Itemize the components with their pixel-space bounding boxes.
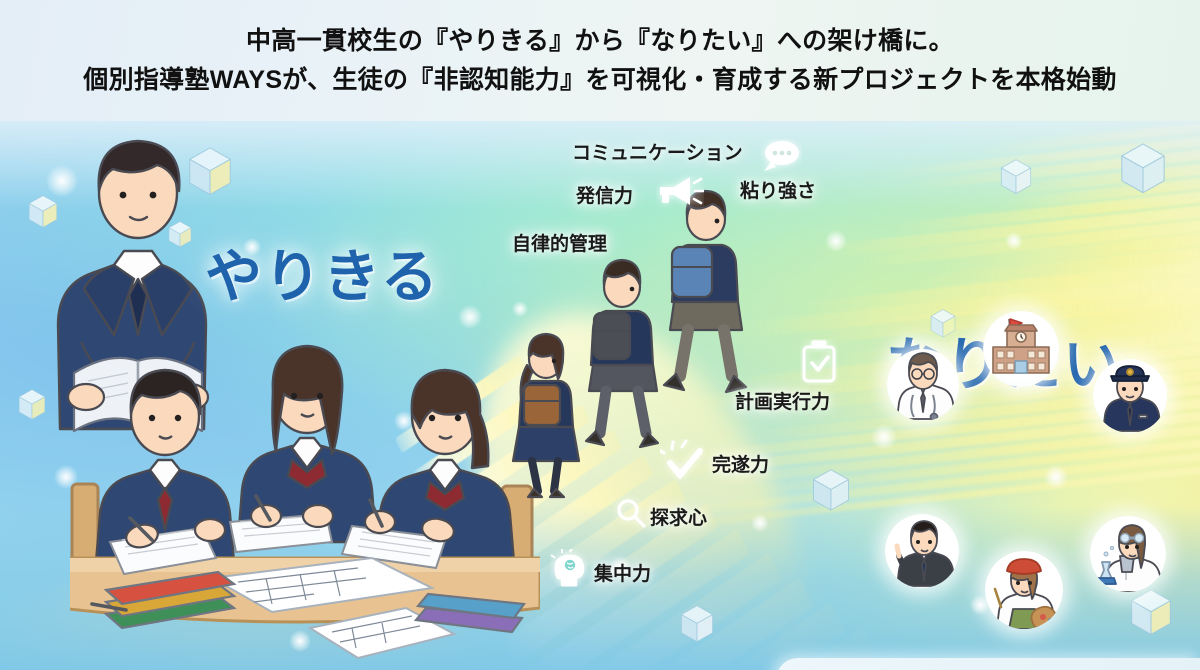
skill-label-concentration: 集中力 [594, 559, 651, 586]
skill-label-perseverance: 粘り強さ [740, 176, 816, 203]
left-keyword: やりきる [205, 231, 440, 313]
artist-icon [985, 551, 1063, 629]
scene-illustration: やりきる なりたい コミュニケーション 粘り強さ 発信力 自律的管理 計画実行力… [0, 121, 1200, 670]
floating-cube [812, 469, 850, 512]
skill-label-communication: コミュニケーション [572, 138, 743, 165]
floating-cube [1130, 589, 1172, 636]
school-building-icon [983, 311, 1059, 387]
magnifier-icon [613, 495, 649, 531]
promo-banner: 中高一貫校生の『やりきる』から『なりたい』への架け橋に。 個別指導塾WAYSが、… [0, 0, 1200, 670]
logo-panel[interactable]: 個別指導塾WAYS 新プロジェクト本格始動 [776, 658, 1200, 670]
header-banner: 中高一貫校生の『やりきる』から『なりたい』への架け橋に。 個別指導塾WAYSが、… [0, 0, 1200, 121]
skill-label-plan-execution: 計画実行力 [735, 387, 830, 414]
speech-bubble-icon [760, 139, 802, 173]
sparkle [458, 305, 482, 329]
floating-cube [1120, 143, 1166, 195]
skill-label-expression: 発信力 [576, 181, 633, 208]
police-officer-icon [1093, 359, 1167, 433]
headline-line-2: 個別指導塾WAYSが、生徒の『非認知能力』を可視化・育成する新プロジェクトを本格… [83, 63, 1116, 97]
businessman-icon [885, 514, 959, 588]
sparkle [751, 514, 769, 532]
headline-line-1: 中高一貫校生の『やりきる』から『なりたい』への架け橋に。 [246, 24, 954, 58]
brain-head-icon [550, 549, 588, 587]
sparkle [825, 230, 847, 252]
sparkle [1005, 232, 1023, 250]
sparkle [1044, 465, 1068, 489]
floating-cube [680, 605, 714, 643]
checkmark-icon [660, 439, 706, 483]
students-studying-illustration [70, 336, 540, 670]
sparkle [871, 424, 897, 450]
skill-label-completion: 完遂力 [712, 450, 769, 477]
skill-label-self-management: 自律的管理 [512, 229, 607, 256]
floating-cube [1000, 159, 1032, 195]
clipboard-check-icon [800, 339, 838, 385]
doctor-icon [887, 349, 959, 421]
skill-label-curiosity: 探求心 [650, 503, 707, 530]
megaphone-icon [656, 171, 704, 211]
scientist-icon [1090, 516, 1166, 592]
